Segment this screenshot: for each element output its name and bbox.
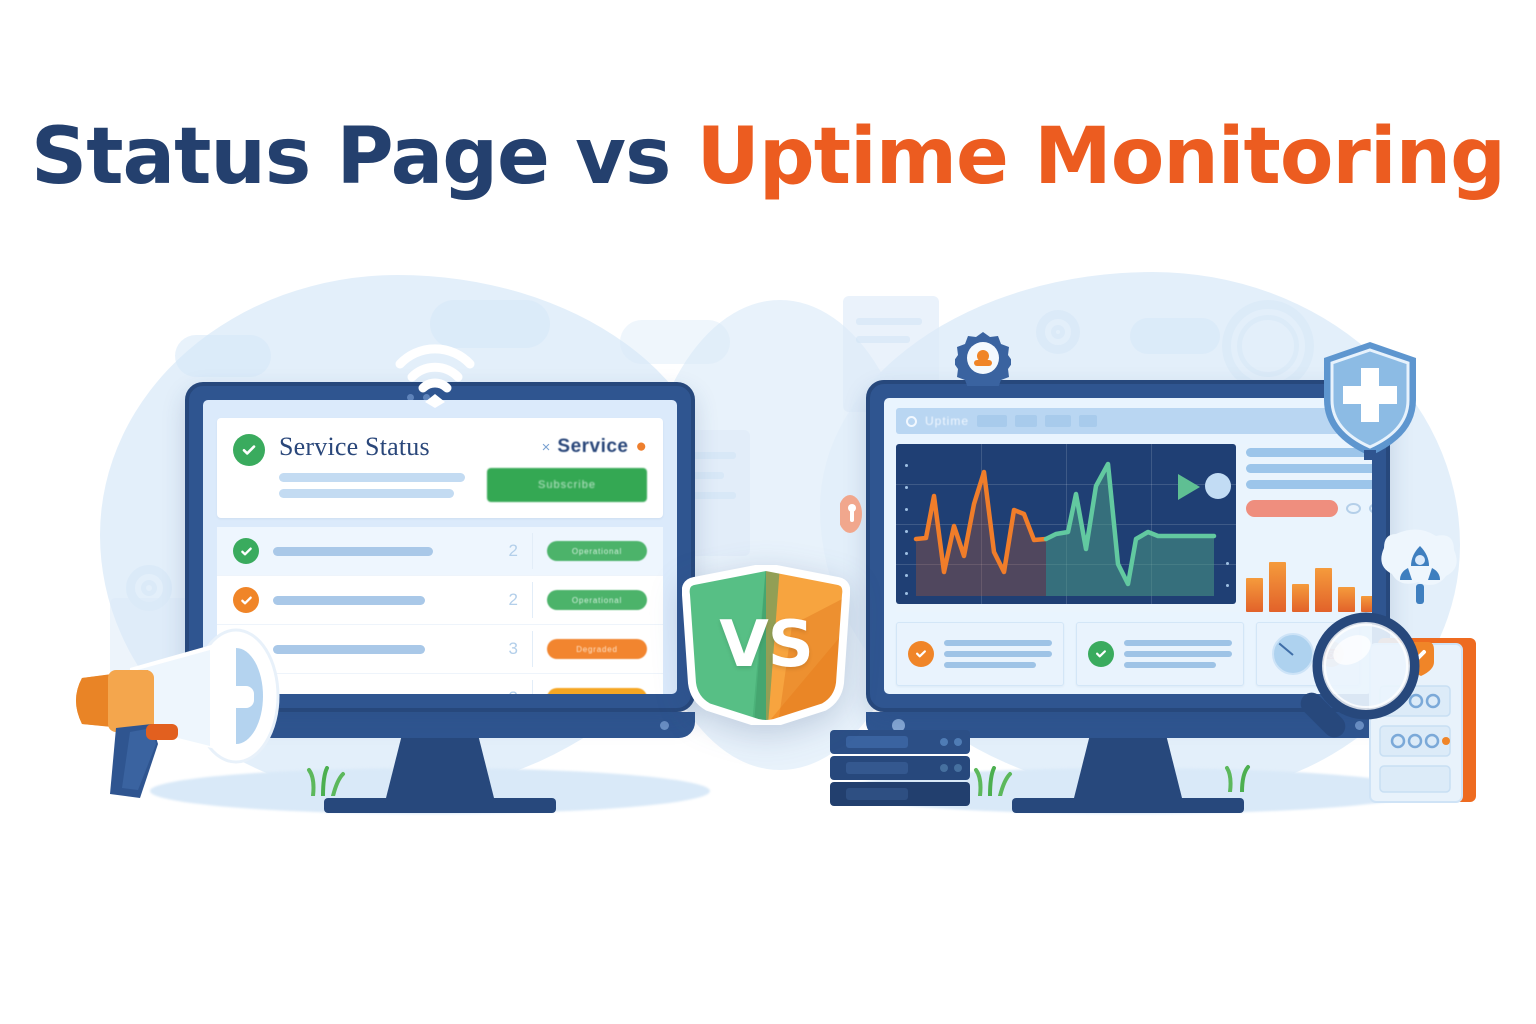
placeholder-bar	[273, 547, 433, 556]
monitor-stand-base	[324, 798, 556, 813]
placeholder-lines	[1124, 640, 1232, 668]
gear-icon	[1222, 300, 1314, 392]
monitor-stand-base	[1012, 798, 1244, 813]
placeholder-lines	[944, 640, 1052, 668]
check-circle-icon	[233, 587, 259, 613]
row-count: 3	[509, 688, 518, 694]
table-row[interactable]: 2 Operational	[217, 576, 663, 625]
title-part-uptime-monitoring: Uptime Monitoring	[697, 112, 1505, 202]
play-triangle-icon	[1178, 474, 1200, 500]
illustration-canvas: Status Page vs Uptime Monitoring	[0, 0, 1536, 1024]
oval-marker-icon	[1369, 503, 1372, 514]
marker-circle-icon	[1205, 473, 1231, 499]
gear-icon	[955, 330, 1011, 386]
rocket-badge-icon	[1378, 528, 1462, 604]
title-part-vs: vs	[549, 112, 697, 202]
divider	[532, 631, 533, 667]
dashboard-sidebar	[1246, 444, 1372, 612]
grass-decoration	[972, 766, 1018, 801]
toolbar-block	[1045, 415, 1071, 427]
toolbar-block	[1079, 415, 1097, 427]
check-circle-icon	[908, 641, 934, 667]
megaphone-icon	[60, 620, 320, 820]
service-status-title: Service Status	[279, 432, 473, 462]
cloud-icon	[175, 335, 271, 377]
vs-badge: VS	[682, 565, 850, 725]
list-item[interactable]	[896, 622, 1064, 686]
service-logo: × Service ●	[542, 432, 647, 458]
check-circle-icon	[1088, 641, 1114, 667]
bar	[1315, 568, 1332, 612]
wifi-icon	[392, 336, 478, 408]
close-icon: ×	[542, 439, 551, 456]
status-indicator-row	[1246, 500, 1372, 517]
chart-series-svg	[896, 444, 1236, 604]
magnifier-icon	[1290, 608, 1430, 756]
circle-icon	[906, 416, 917, 427]
grass-decoration	[305, 766, 351, 801]
service-status-header: Service Status × Service ● Subscribe	[217, 418, 663, 518]
subscribe-button[interactable]: Subscribe	[487, 468, 647, 502]
placeholder-bar	[1246, 480, 1372, 489]
gear-icon	[1036, 310, 1080, 354]
page-title: Status Page vs Uptime Monitoring	[0, 112, 1536, 202]
decorative-line	[856, 318, 922, 325]
divider	[532, 533, 533, 569]
vs-label: VS	[682, 565, 850, 725]
shield-plus-icon	[1318, 338, 1422, 460]
divider	[532, 582, 533, 618]
server-stack-icon	[826, 728, 974, 808]
cloud-icon	[620, 320, 730, 364]
monitor-stand-neck	[386, 738, 494, 798]
oval-marker-icon	[1346, 503, 1361, 514]
toolbar-block	[1015, 415, 1037, 427]
status-badge: Degraded	[547, 639, 647, 659]
status-pill	[1246, 500, 1338, 517]
status-badge	[547, 688, 647, 694]
placeholder-bar	[279, 473, 465, 482]
dashboard-body	[896, 444, 1360, 612]
decorative-line	[856, 336, 910, 343]
grass-decoration	[1222, 764, 1262, 797]
row-count: 3	[509, 639, 518, 659]
title-part-status-page: Status Page	[31, 112, 549, 202]
check-circle-icon	[233, 434, 265, 466]
placeholder-bar	[273, 596, 425, 605]
check-circle-icon	[233, 538, 259, 564]
status-badge: Operational	[547, 590, 647, 610]
indicator-dot-icon	[660, 721, 669, 730]
key-badge-icon	[840, 494, 872, 534]
row-count: 2	[509, 541, 518, 561]
placeholder-bar	[1246, 464, 1372, 473]
cloud-icon	[1130, 318, 1220, 354]
response-time-chart	[896, 444, 1236, 604]
divider	[532, 680, 533, 694]
bar	[1269, 562, 1286, 612]
service-logo-text: Service	[557, 436, 628, 458]
row-count: 2	[509, 590, 518, 610]
bar	[1246, 578, 1263, 612]
url-text: Uptime	[925, 414, 969, 428]
mini-bar-chart	[1246, 538, 1372, 612]
list-item[interactable]	[1076, 622, 1244, 686]
toolbar-block	[977, 415, 1007, 427]
browser-toolbar[interactable]: Uptime	[896, 408, 1360, 434]
status-badge: Operational	[547, 541, 647, 561]
monitor-stand-neck	[1074, 738, 1182, 798]
logo-dot-icon: ●	[636, 436, 647, 458]
table-row[interactable]: 2 Operational	[217, 527, 663, 576]
placeholder-bar	[279, 489, 454, 498]
